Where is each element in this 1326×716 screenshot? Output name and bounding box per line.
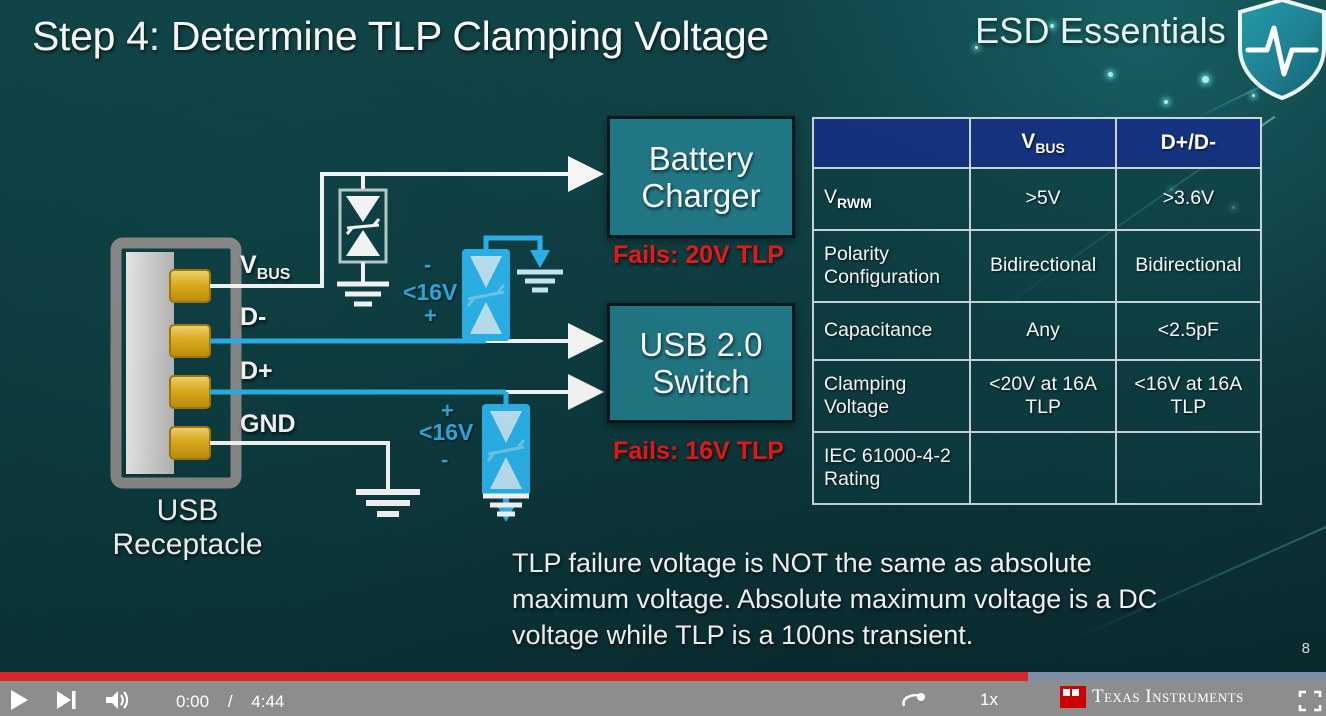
tvs2-voltage-label: <16V xyxy=(419,419,473,446)
pin-label-dplus: D+ xyxy=(240,357,273,386)
table-row: Polarity Configuration Bidirectional Bid… xyxy=(813,230,1261,302)
body-paragraph: TLP failure voltage is NOT the same as a… xyxy=(512,546,1212,654)
usb-receptacle-caption: USB Receptacle xyxy=(100,494,275,562)
current-time: 0:00 xyxy=(176,692,209,711)
row-label-capacitance: Capacitance xyxy=(813,302,970,360)
tvs1-minus-label: - xyxy=(424,252,431,278)
ti-logo-text: Texas Instruments xyxy=(1092,686,1244,708)
pin-label-dminus: D- xyxy=(240,303,266,332)
video-scrubber-hit-area[interactable] xyxy=(0,668,1326,682)
next-track-icon[interactable] xyxy=(54,688,78,712)
tvs1-voltage-label: <16V xyxy=(403,279,457,306)
caption-line-2: Receptacle xyxy=(100,528,275,562)
cell-vrwm-vbus: >5V xyxy=(970,168,1115,230)
spark-dot xyxy=(1108,72,1113,77)
table-header-row: VBUS D+/D- xyxy=(813,118,1261,168)
video-time-display: 0:00 / 4:44 xyxy=(176,692,284,712)
texas-instruments-logo: Texas Instruments xyxy=(1060,686,1244,708)
cell-polarity-dpdm: Bidirectional xyxy=(1116,230,1261,302)
tvs2-minus-label: - xyxy=(441,447,448,473)
fail-note-battery: Fails: 20V TLP xyxy=(613,241,784,270)
page-number: 8 xyxy=(1302,640,1310,657)
cell-iec-dpdm xyxy=(1116,432,1261,504)
table-header-vbus: VBUS xyxy=(970,118,1115,168)
closed-captions-icon[interactable] xyxy=(900,690,930,716)
cell-vrwm-dpdm: >3.6V xyxy=(1116,168,1261,230)
slide-canvas: Step 4: Determine TLP Clamping Voltage E… xyxy=(0,0,1326,672)
block-usb-line1: USB 2.0 xyxy=(640,326,763,363)
tvs-cyan-gnd-icon xyxy=(482,392,530,522)
row-label-iec: IEC 61000-4-2 Rating xyxy=(813,432,970,504)
cell-iec-vbus xyxy=(970,432,1115,504)
table-row: Capacitance Any <2.5pF xyxy=(813,302,1261,360)
caption-line-1: USB xyxy=(100,494,275,528)
block-battery-charger: Battery Charger xyxy=(607,116,795,238)
tvs-cyan-vbus-icon xyxy=(462,238,563,341)
block-battery-line2: Charger xyxy=(641,177,760,214)
time-separator: / xyxy=(228,692,233,711)
cell-polarity-vbus: Bidirectional xyxy=(970,230,1115,302)
spark-dot xyxy=(1202,76,1209,83)
ti-logo-mark xyxy=(1060,686,1086,708)
spark-dot xyxy=(1164,100,1168,104)
row-label-clamping: Clamping Voltage xyxy=(813,360,970,432)
total-duration: 4:44 xyxy=(251,692,284,711)
table-header-blank xyxy=(813,118,970,168)
row-label-vrwm: VRWM xyxy=(813,168,970,230)
fail-note-usb: Fails: 16V TLP xyxy=(613,437,784,466)
pin-label-vbus: VBUS xyxy=(240,251,290,284)
ground-symbol-main xyxy=(356,492,420,514)
cell-capacitance-dpdm: <2.5pF xyxy=(1116,302,1261,360)
block-battery-line1: Battery xyxy=(641,140,760,177)
cell-capacitance-vbus: Any xyxy=(970,302,1115,360)
table-row: Clamping Voltage <20V at 16A TLP <16V at… xyxy=(813,360,1261,432)
cell-clamping-dpdm: <16V at 16A TLP xyxy=(1116,360,1261,432)
fullscreen-icon[interactable] xyxy=(1298,690,1322,716)
block-usb-switch: USB 2.0 Switch xyxy=(607,303,795,423)
slide-viewer: Step 4: Determine TLP Clamping Voltage E… xyxy=(0,0,1326,716)
table-header-dpdm: D+/D- xyxy=(1116,118,1261,168)
block-usb-line2: Switch xyxy=(640,363,763,400)
table-row: VRWM >5V >3.6V xyxy=(813,168,1261,230)
tvs-white-vbus-icon xyxy=(337,174,389,304)
playback-speed-button[interactable]: 1x xyxy=(980,690,998,710)
play-icon[interactable] xyxy=(8,688,30,712)
brand-label: ESD Essentials xyxy=(975,10,1226,52)
row-label-polarity: Polarity Configuration xyxy=(813,230,970,302)
shield-heartbeat-icon xyxy=(1234,0,1326,100)
table-row: IEC 61000-4-2 Rating xyxy=(813,432,1261,504)
cell-clamping-vbus: <20V at 16A TLP xyxy=(970,360,1115,432)
tvs1-plus-label: + xyxy=(424,303,437,329)
specification-table: VBUS D+/D- VRWM >5V >3.6V Polarity Confi… xyxy=(812,117,1262,505)
pin-label-gnd: GND xyxy=(240,410,296,439)
volume-icon[interactable] xyxy=(104,688,132,712)
usb-receptacle-icon xyxy=(116,243,236,483)
